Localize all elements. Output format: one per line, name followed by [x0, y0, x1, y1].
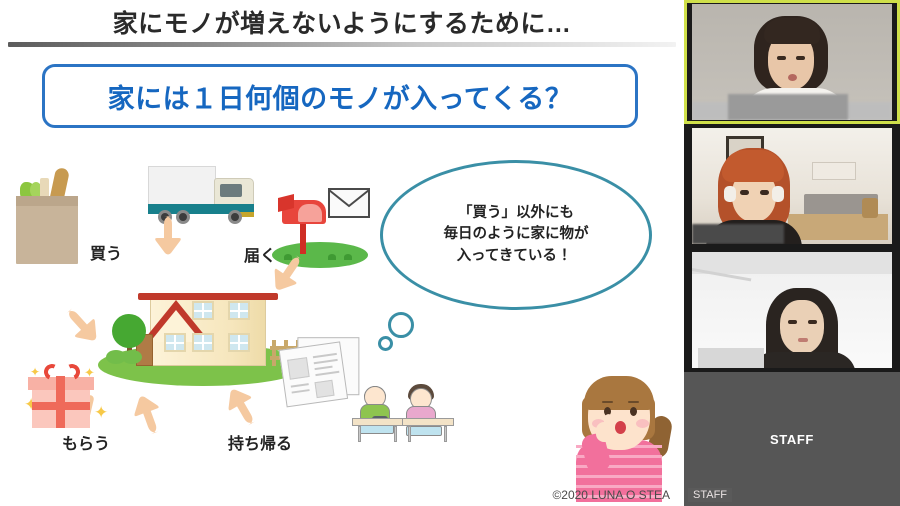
paper-bag-fold	[16, 196, 78, 206]
house-window	[228, 301, 250, 320]
children-at-desks-icon	[352, 372, 462, 442]
arrow-up-icon	[122, 388, 174, 441]
room-ceiling	[692, 252, 892, 274]
paper-bag-body	[16, 198, 78, 264]
thought-bubble: 「買う」以外にも 毎日のように家に物が 入ってきている ！	[380, 160, 652, 310]
bubble-line-2: 毎日のように家に物が	[444, 224, 589, 245]
video-participants-panel: STAFF STAFF	[684, 0, 900, 506]
arrow-down-icon	[148, 214, 188, 256]
video-tile-1[interactable]	[684, 0, 900, 124]
participant-eye	[760, 190, 769, 195]
house-illustration	[98, 276, 308, 386]
school-desk	[352, 418, 404, 442]
participant-eye	[777, 56, 786, 60]
video-tile-2[interactable]	[684, 124, 900, 248]
bush-icon	[122, 350, 142, 364]
participant-shirt	[750, 352, 856, 368]
girl-eye	[630, 407, 637, 416]
girl-eyebrow	[602, 401, 613, 403]
video-tile-3-feed	[692, 252, 892, 368]
participant-eye	[740, 190, 749, 195]
headset-earpiece	[724, 186, 736, 202]
video-tile-4-staff-placeholder[interactable]: STAFF STAFF	[684, 372, 900, 506]
label-bring-home: 持ち帰る	[228, 430, 292, 454]
mailbox-highlight	[298, 204, 322, 222]
participant-eye	[796, 56, 805, 60]
blurred-overlay	[728, 94, 848, 120]
participant-mouth	[788, 74, 797, 81]
desk-surface	[402, 418, 454, 426]
video-tile-1-feed	[692, 4, 892, 120]
school-desk	[402, 418, 454, 442]
gift-ribbon-vertical	[56, 376, 65, 428]
thought-bubble-text: 「買う」以外にも 毎日のように家に物が 入ってきている ！	[444, 203, 589, 267]
label-receive: もらう	[62, 430, 110, 454]
copyright-notice: ©2020 LUNA O STEA	[552, 488, 670, 502]
participant-fringe	[764, 18, 820, 44]
presentation-slide: 家にモノが増えないようにするために… 家には１日何個のモノが入ってくる？ 買う	[0, 0, 684, 506]
bubble-line-1: 「買う」以外にも	[444, 203, 589, 224]
newspaper-sheet-front	[279, 341, 348, 407]
girl-hair-top	[584, 376, 654, 410]
grass-tuft	[328, 254, 336, 260]
grass-tuft	[344, 254, 352, 260]
participant-face	[780, 300, 824, 354]
room-stool	[862, 198, 878, 218]
video-tile-3[interactable]	[684, 248, 900, 372]
house-window	[192, 333, 214, 352]
girl-cheek	[636, 419, 649, 428]
staff-placeholder-label: STAFF	[770, 432, 814, 447]
gift-box-icon: ✦ ✦ ✦ ✦	[22, 360, 102, 428]
thought-bubble-dot-small	[378, 336, 393, 351]
subtitle-text: 家には１日何個のモノが入ってくる？	[108, 77, 573, 116]
truck-window	[220, 184, 242, 197]
page-title: 家にモノが増えないようにするために…	[0, 4, 684, 40]
thinking-girl-illustration	[560, 332, 678, 502]
arrow-up-left-icon	[214, 379, 270, 435]
envelope-flap-icon	[328, 188, 370, 218]
laptop-screen	[698, 348, 764, 368]
sparkle-icon: ✦	[94, 404, 108, 421]
house-window	[164, 333, 186, 352]
desk-surface	[352, 418, 404, 426]
participant-fringe	[722, 150, 784, 182]
tree-icon	[112, 314, 146, 348]
participant-eye	[808, 320, 817, 324]
girl-mouth	[615, 421, 626, 434]
video-tile-2-feed	[692, 128, 892, 244]
label-buy: 買う	[90, 240, 122, 264]
girl-eyebrow	[628, 401, 639, 403]
blurred-overlay	[692, 224, 784, 244]
house-roof-ridge	[138, 293, 278, 300]
participant-name-badge: STAFF	[688, 488, 732, 502]
screen-root: 家にモノが増えないようにするために… 家には１日何個のモノが入ってくる？ 買う	[0, 0, 900, 506]
thought-bubble-dot-large	[388, 312, 414, 338]
headset-earpiece	[772, 186, 784, 202]
house-window	[228, 333, 250, 352]
truck-cargo-box	[148, 166, 216, 206]
flow-diagram: 買う	[0, 136, 684, 504]
participant-mouth	[798, 338, 808, 342]
room-cabinet	[812, 162, 856, 180]
title-divider	[8, 42, 676, 47]
bubble-line-3: 入ってきている ！	[444, 246, 589, 267]
grocery-bag-icon	[12, 178, 84, 264]
house-window	[192, 301, 214, 320]
participant-eye	[788, 320, 797, 324]
truck-wheel	[228, 210, 242, 224]
subtitle-callout-box: 家には１日何個のモノが入ってくる？	[42, 64, 638, 128]
